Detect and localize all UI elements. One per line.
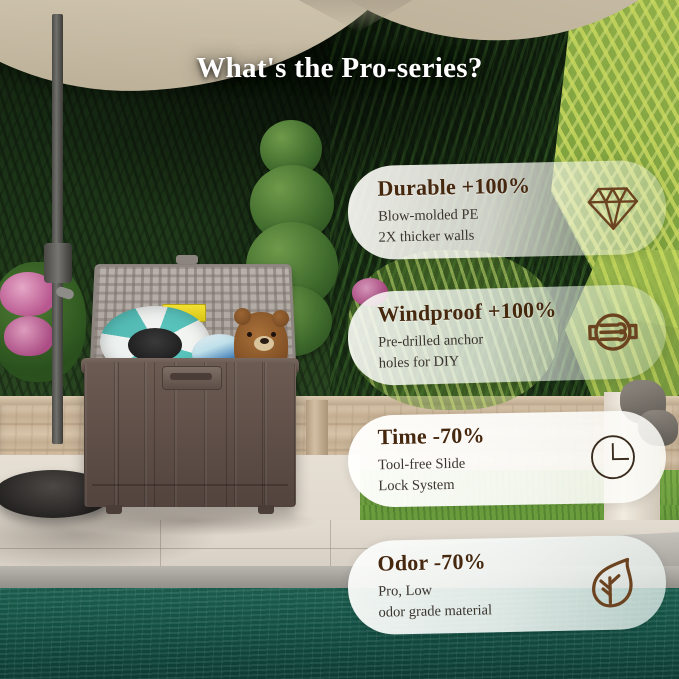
deck-box-latch-slot — [170, 373, 212, 380]
leaf-icon — [581, 551, 644, 614]
swim-ring-hole — [128, 328, 182, 362]
page-title: What's the Pro-series? — [0, 52, 679, 85]
deck-box-base-trim — [92, 484, 288, 486]
hydrangea-left-lower — [4, 316, 54, 356]
feature-title: Durable +100% — [377, 172, 581, 200]
feature-card-windproof: Windproof +100% Pre-drilled anchor holes… — [347, 284, 668, 387]
clock-icon — [581, 426, 644, 489]
feature-line-2: holes for DIY — [378, 348, 583, 375]
feature-line-2: Lock System — [378, 473, 582, 498]
teddy-bear-eye-left — [247, 332, 252, 337]
feature-card-text: Time -70% Tool-free Slide Lock System — [377, 422, 582, 498]
teddy-bear-ear-right — [272, 310, 289, 327]
feature-card-text: Windproof +100% Pre-drilled anchor holes… — [377, 297, 583, 375]
lid-hinge-handle — [176, 255, 198, 264]
deck-box-ground-shadow — [68, 506, 318, 536]
feature-card-text: Durable +100% Blow-molded PE 2X thicker … — [377, 172, 582, 248]
feature-line-2: 2X thicker walls — [378, 224, 582, 249]
feature-card-text: Odor -70% Pro, Low odor grade material — [377, 547, 582, 623]
feature-card-time: Time -70% Tool-free Slide Lock System — [347, 410, 667, 508]
teddy-bear-eye-right — [271, 332, 276, 337]
feature-title: Odor -70% — [377, 547, 581, 575]
teddy-bear-ear-left — [234, 308, 251, 325]
feature-title: Windproof +100% — [377, 297, 582, 327]
teddy-bear-nose — [260, 338, 269, 344]
feature-card-odor: Odor -70% Pro, Low odor grade material — [347, 535, 667, 636]
product-feature-image: What's the Pro-series? Durable +100% Blo… — [0, 0, 679, 679]
feature-title: Time -70% — [377, 422, 581, 450]
feature-line-2: odor grade material — [378, 599, 582, 624]
diamond-icon — [581, 176, 644, 239]
umbrella-pole-joint — [44, 243, 72, 283]
resin-deck-box — [84, 262, 296, 532]
feature-card-durable: Durable +100% Blow-molded PE 2X thicker … — [347, 160, 667, 261]
wind-icon — [581, 300, 645, 364]
